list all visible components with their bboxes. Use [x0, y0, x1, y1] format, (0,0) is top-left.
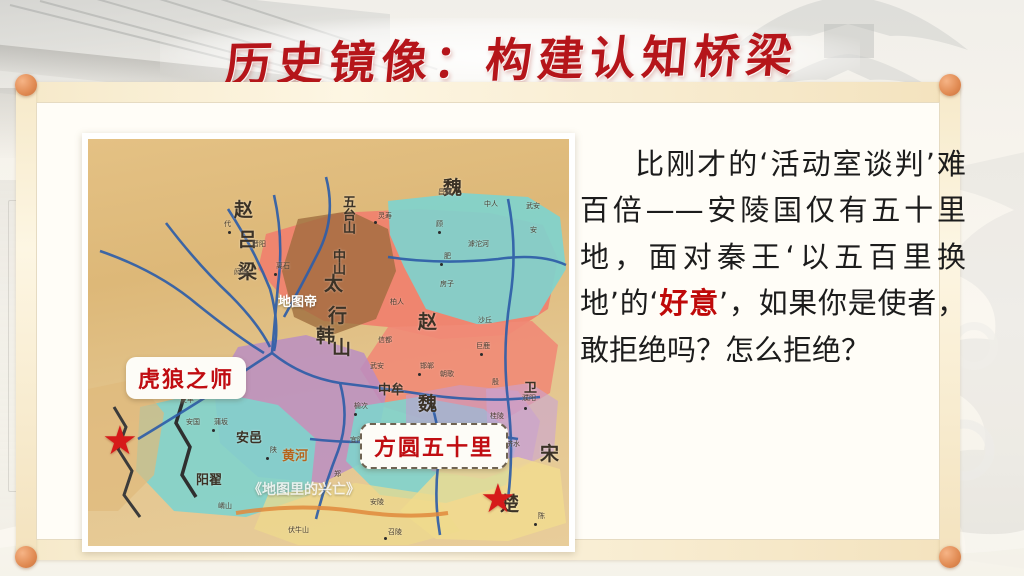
callout-fifty-li-square-label: 方圆五十里: [374, 435, 494, 461]
frame-bar-top: [16, 82, 960, 102]
map-canvas: 赵 吕 梁 魏 赵 韩 魏 楚 宋 卫 太 行 山 五台山 中山 中牟 阳翟: [88, 139, 569, 546]
scroll-finial-top-left: [15, 74, 37, 96]
callout-fifty-li-square[interactable]: 方圆五十里: [360, 423, 508, 469]
frame-bar-left: [16, 82, 36, 560]
slide-canvas: 历史镜像：构建认知桥梁: [0, 0, 1024, 576]
callout-tiger-wolf-army[interactable]: 虎狼之师: [126, 357, 246, 399]
callout-tiger-wolf-army-label: 虎狼之师: [138, 367, 234, 393]
narrative-paragraph: 比刚才的‘活动室谈判’难百倍——安陵国仅有五十里地，面对秦王‘以五百里换地’的‘…: [580, 141, 966, 373]
qin-star-marker: ★: [102, 421, 138, 461]
scroll-finial-bottom-left: [15, 546, 37, 568]
scroll-finial-top-right: [939, 74, 961, 96]
narrative-highlight: 好意: [659, 286, 719, 320]
anling-star-marker: ★: [480, 479, 516, 519]
scroll-finial-bottom-right: [939, 546, 961, 568]
historical-map[interactable]: 赵 吕 梁 魏 赵 韩 魏 楚 宋 卫 太 行 山 五台山 中山 中牟 阳翟: [82, 133, 575, 552]
narrative-text-panel: 比刚才的‘活动室谈判’难百倍——安陵国仅有五十里地，面对秦王‘以五百里换地’的‘…: [580, 112, 966, 502]
map-watermark: 《地图里的兴亡》: [248, 479, 360, 499]
